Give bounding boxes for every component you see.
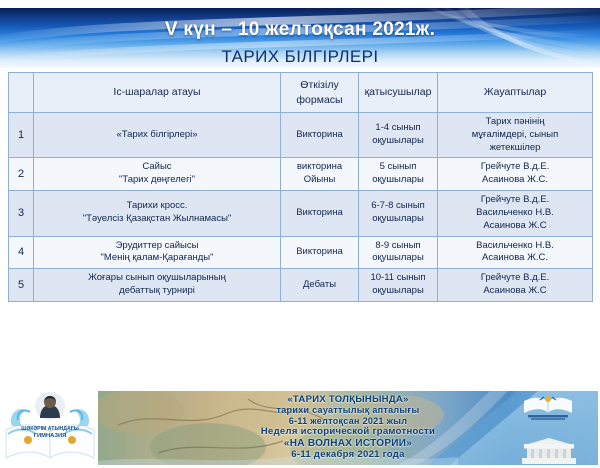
event-name-line2: "Менің қалам-Қарағанды" [100, 252, 213, 263]
event-name-line2: "Тәуелсіз Қазақстан Жылнамасы" [83, 213, 232, 224]
monument-illustration [518, 438, 580, 464]
row-responsible: Грейчуте В.д.Е. Асаинова Ж.С. [438, 158, 593, 191]
row-number: 5 [9, 269, 34, 302]
responsible-line3: жетекшілер [490, 142, 541, 153]
row-participants: 5 сынып оқушылары [359, 158, 438, 191]
responsible-line2: Асаинова Ж.С. [482, 252, 548, 263]
row-form: Дебаты [281, 269, 359, 302]
column-header-participants: қатысушылар [359, 73, 438, 113]
presentation-slide: V күн – 10 желтоқсан 2021ж. ТАРИХ БІЛГІР… [0, 0, 600, 468]
column-header-form: Өткізілу формасы [281, 73, 359, 113]
row-number: 3 [9, 191, 34, 236]
table-row: 4 Эрудиттер сайысы "Менің қалам-Қарағанд… [9, 236, 593, 269]
participants-line1: 5 сынып [380, 161, 417, 172]
table-row: 5 Жоғары сынып оқушыларының дебаттық тур… [9, 269, 593, 302]
table-row: 1 «Тарих білгірлері» Викторина 1-4 сынып… [9, 113, 593, 158]
event-name-line2: дебаттық турнирі [119, 285, 195, 296]
responsible-line3: Асаинова Ж.С [483, 220, 546, 231]
row-responsible: Грейчуте В.д.Е. Асаинова Ж.С [438, 269, 593, 302]
footer-strip: ШӘКӘРІМ АТЫНДАҒЫ ГИМНАЗИЯ [0, 390, 600, 468]
participants-line2: оқушылары [372, 252, 424, 263]
form-line1: Викторина [296, 246, 343, 257]
responsible-line2: Асаинова Ж.С [483, 285, 546, 296]
form-line1: викторина [297, 161, 342, 172]
column-header-event-name: Іс-шаралар атауы [34, 73, 281, 113]
slide-title: V күн – 10 желтоқсан 2021ж. [0, 19, 600, 41]
title-banner: V күн – 10 желтоқсан 2021ж. ТАРИХ БІЛГІР… [0, 8, 600, 68]
participants-line1: 6-7-8 сынып [371, 200, 425, 211]
column-header-responsible: Жауаптылар [438, 73, 593, 113]
schedule-table: Іс-шаралар атауы Өткізілу формасы қатысу… [8, 72, 593, 302]
row-event-name: Сайыс "Тарих дөңгелегі" [34, 158, 281, 191]
row-participants: 8-9 сынып оқушылары [359, 236, 438, 269]
partner-logo-icon [520, 393, 576, 421]
responsible-line2: Васильченко Н.В. [476, 207, 554, 218]
form-line1: Дебаты [303, 279, 336, 290]
school-logo: ШӘКӘРІМ АТЫНДАҒЫ ГИМНАЗИЯ [2, 390, 98, 464]
row-responsible: Васильченко Н.В. Асаинова Ж.С. [438, 236, 593, 269]
event-name-line2: "Тарих дөңгелегі" [119, 174, 195, 185]
row-participants: 6-7-8 сынып оқушылары [359, 191, 438, 236]
column-header-form-line2: формасы [296, 94, 342, 106]
participants-line1: 8-9 сынып [375, 240, 420, 251]
school-logo-line1: ШӘКӘРІМ АТЫНДАҒЫ [21, 426, 79, 432]
slide-subtitle: ТАРИХ БІЛГІРЛЕРІ [0, 47, 600, 67]
form-line2: Ойыны [304, 174, 336, 185]
row-number: 1 [9, 113, 34, 158]
column-header-form-line1: Өткізілу [300, 79, 338, 91]
column-header-number [9, 73, 34, 113]
event-name-line1: Эрудиттер сайысы [116, 240, 199, 251]
event-name-line1: Жоғары сынып оқушыларының [88, 272, 226, 283]
table-row: 2 Сайыс "Тарих дөңгелегі" викторина Ойын… [9, 158, 593, 191]
form-line1: Викторина [296, 207, 343, 218]
row-participants: 10-11 сынып оқушылары [359, 269, 438, 302]
row-event-name: «Тарих білгірлері» [34, 113, 281, 158]
row-form: Викторина [281, 113, 359, 158]
participants-line1: 1-4 сынып [375, 122, 420, 133]
table-row: 3 Тарихи кросс. "Тәуелсіз Қазақстан Жылн… [9, 191, 593, 236]
responsible-line1: Грейчуте В.д.Е. [481, 194, 550, 205]
event-name-line1: Тарихи кросс. [127, 200, 188, 211]
row-number: 4 [9, 236, 34, 269]
row-responsible: Тарих пәнінің мұғалімдері, сынып жетекші… [438, 113, 593, 158]
form-line1: Викторина [296, 129, 343, 140]
event-name-line1: Сайыс [142, 161, 171, 172]
responsible-line1: Тарих пәнінің [485, 116, 544, 127]
row-event-name: Эрудиттер сайысы "Менің қалам-Қарағанды" [34, 236, 281, 269]
row-number: 2 [9, 158, 34, 191]
responsible-line1: Васильченко Н.В. [476, 240, 554, 251]
row-responsible: Грейчуте В.д.Е. Васильченко Н.В. Асаинов… [438, 191, 593, 236]
row-event-name: Тарихи кросс. "Тәуелсіз Қазақстан Жылнам… [34, 191, 281, 236]
responsible-line2: мұғалімдері, сынып [472, 129, 559, 140]
row-form: Викторина [281, 236, 359, 269]
event-name-line1: «Тарих білгірлері» [116, 129, 197, 140]
participants-line1: 10-11 сынып [370, 272, 425, 283]
participants-line2: оқушылары [372, 174, 424, 185]
participants-line2: оқушылары [372, 285, 424, 296]
table-header-row: Іс-шаралар атауы Өткізілу формасы қатысу… [9, 73, 593, 113]
participants-line2: оқушылары [372, 213, 424, 224]
participants-line2: оқушылары [372, 135, 424, 146]
event-week-banner: «ТАРИХ ТОЛҚЫНЫНДА» тарихи сауаттылық апт… [98, 391, 598, 465]
responsible-line2: Асаинова Ж.С. [482, 174, 548, 185]
row-form: Викторина [281, 191, 359, 236]
row-participants: 1-4 сынып оқушылары [359, 113, 438, 158]
school-logo-line2: ГИМНАЗИЯ [34, 433, 67, 439]
row-form: викторина Ойыны [281, 158, 359, 191]
row-event-name: Жоғары сынып оқушыларының дебаттық турни… [34, 269, 281, 302]
responsible-line1: Грейчуте В.д.Е. [481, 272, 550, 283]
responsible-line1: Грейчуте В.д.Е. [481, 161, 550, 172]
